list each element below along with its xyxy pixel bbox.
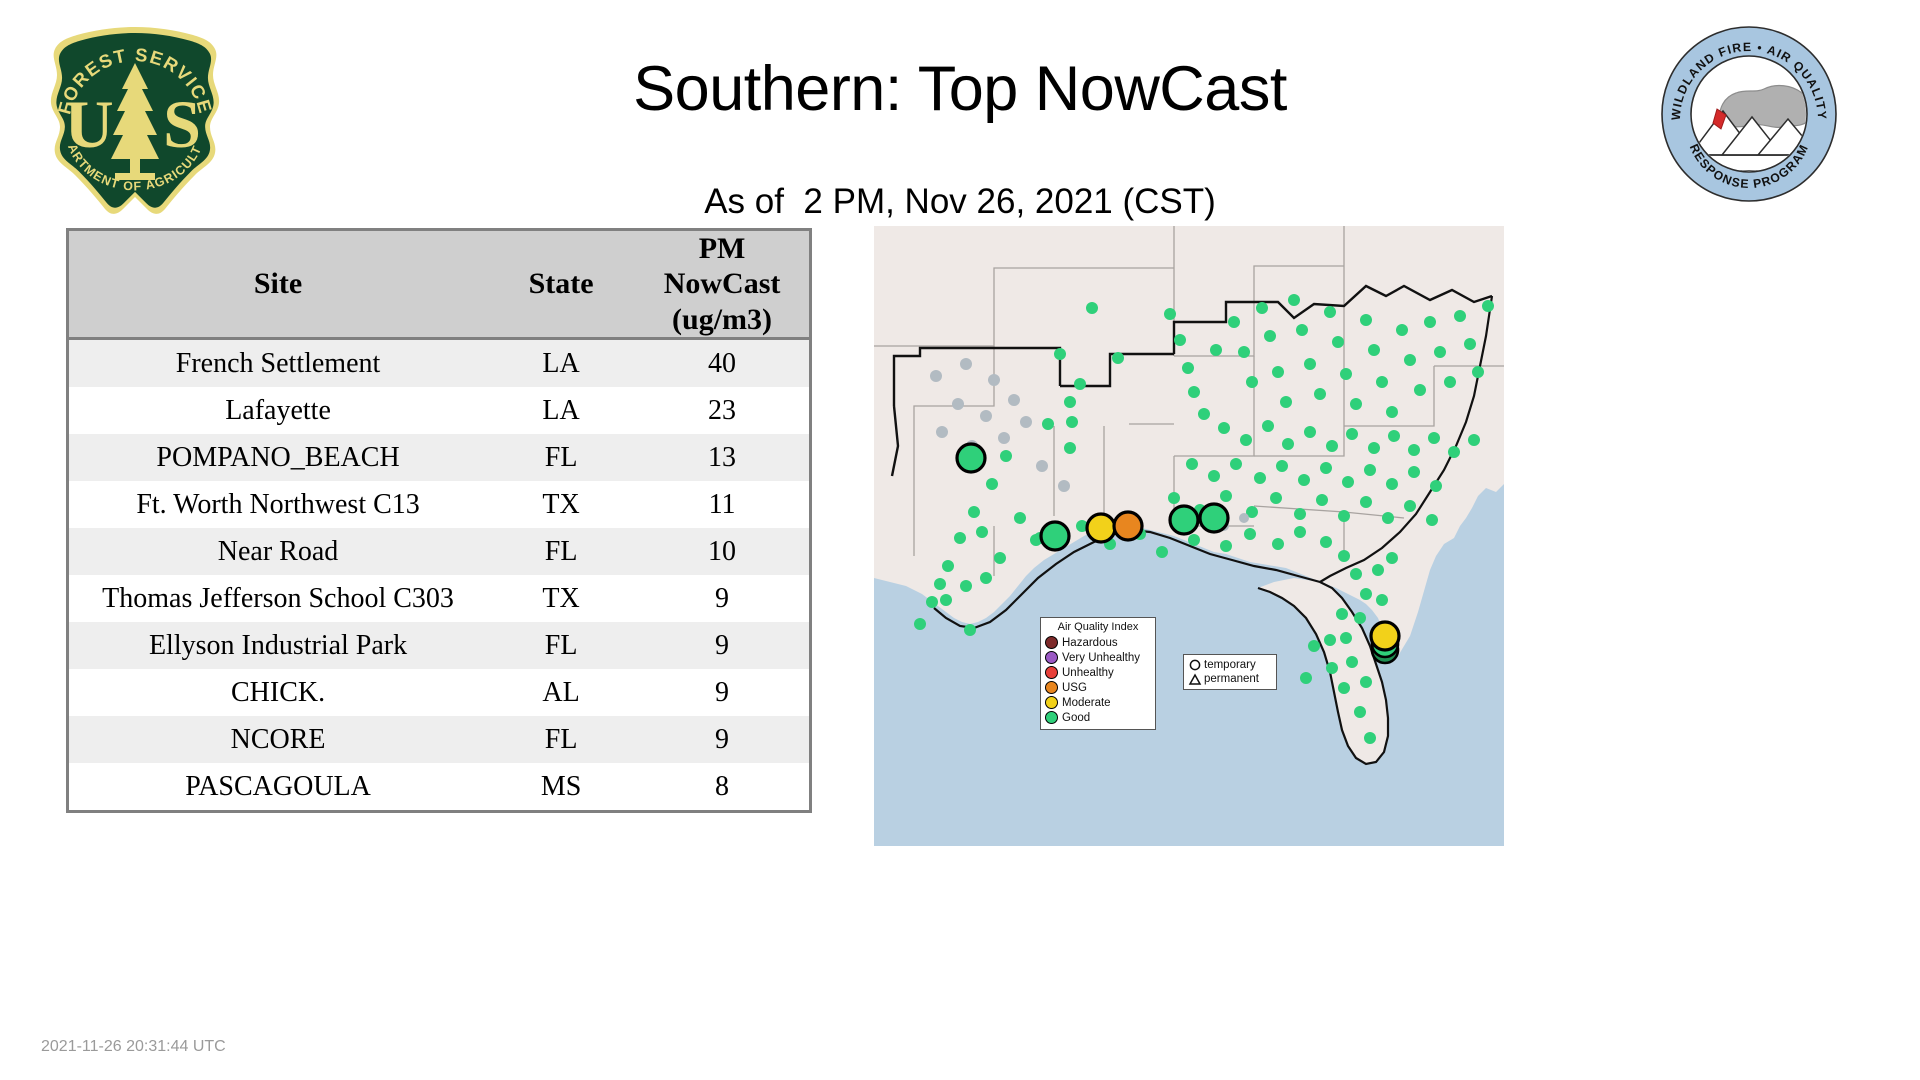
cell-value: 9	[635, 575, 809, 622]
aqi-legend-item-good: Good	[1045, 710, 1151, 725]
cell-site: CHICK.	[69, 669, 487, 716]
aqi-legend-item-hazardous: Hazardous	[1045, 635, 1151, 650]
site-type-label-permanent: permanent	[1204, 673, 1259, 685]
cell-state: FL	[487, 528, 635, 575]
aqi-legend-item-moderate: Moderate	[1045, 695, 1151, 710]
table-row: CHICK. AL 9	[69, 669, 809, 716]
site-type-legend: temporary permanent	[1183, 654, 1277, 690]
highlight-marker-pascagoula[interactable]	[1170, 506, 1198, 534]
table-row: PASCAGOULA MS 8	[69, 763, 809, 810]
cell-site: PASCAGOULA	[69, 763, 487, 810]
cell-site: Ft. Worth Northwest C13	[69, 481, 487, 528]
aqi-label-good: Good	[1062, 712, 1090, 724]
cell-site: POMPANO_BEACH	[69, 434, 487, 481]
aqi-swatch-hazardous	[1045, 636, 1058, 649]
table-row: Ft. Worth Northwest C13 TX 11	[69, 481, 809, 528]
cell-state: FL	[487, 434, 635, 481]
aqi-swatch-usg	[1045, 681, 1058, 694]
aqi-legend-item-unhealthy: Unhealthy	[1045, 665, 1151, 680]
cell-state: FL	[487, 716, 635, 763]
table-body: French Settlement LA 40 Lafayette LA 23 …	[69, 339, 809, 811]
cell-state: AL	[487, 669, 635, 716]
table-row: French Settlement LA 40	[69, 339, 809, 388]
cell-site: Near Road	[69, 528, 487, 575]
cell-value: 9	[635, 622, 809, 669]
cell-state: FL	[487, 622, 635, 669]
aqi-legend-item-very-unhealthy: Very Unhealthy	[1045, 650, 1151, 665]
cell-site: Ellyson Industrial Park	[69, 622, 487, 669]
cell-site: French Settlement	[69, 339, 487, 388]
top-nowcast-table: Site State PM NowCast (ug/m3) French Set…	[69, 231, 809, 810]
highlight-marker-pompano-beach[interactable]	[1371, 622, 1399, 650]
highlight-marker-ft-worth[interactable]	[957, 444, 985, 472]
site-type-label-temporary: temporary	[1204, 659, 1256, 671]
table-row: POMPANO_BEACH FL 13	[69, 434, 809, 481]
column-header-pm-line1: PM	[635, 231, 809, 266]
column-header-pm-line2: NowCast	[635, 266, 809, 301]
column-header-site-label: Site	[254, 267, 302, 300]
aqi-label-unhealthy: Unhealthy	[1062, 667, 1114, 679]
generation-timestamp: 2021-11-26 20:31:44 UTC	[41, 1038, 226, 1056]
table-row: Ellyson Industrial Park FL 9	[69, 622, 809, 669]
aqi-swatch-good	[1045, 711, 1058, 724]
table-header-row: Site State PM NowCast (ug/m3)	[69, 231, 809, 339]
column-header-pm-line3: (ug/m3)	[635, 302, 809, 337]
page-subtitle: As of 2 PM, Nov 26, 2021 (CST)	[0, 182, 1920, 222]
cell-state: LA	[487, 387, 635, 434]
column-header-state-label: State	[529, 267, 594, 300]
highlight-marker-lafayette[interactable]	[1087, 514, 1115, 542]
table-row: Near Road FL 10	[69, 528, 809, 575]
cell-value: 11	[635, 481, 809, 528]
cell-site: Thomas Jefferson School C303	[69, 575, 487, 622]
cell-value: 9	[635, 716, 809, 763]
page-title: Southern: Top NowCast	[0, 55, 1920, 124]
highlight-marker-ellyson[interactable]	[1200, 504, 1228, 532]
cell-value: 23	[635, 387, 809, 434]
cell-state: TX	[487, 481, 635, 528]
cell-state: MS	[487, 763, 635, 810]
aqi-legend-item-usg: USG	[1045, 680, 1151, 695]
aqi-legend: Air Quality Index Hazardous Very Unhealt…	[1040, 617, 1156, 730]
cell-site: Lafayette	[69, 387, 487, 434]
nowcast-table-container: Site State PM NowCast (ug/m3) French Set…	[66, 228, 812, 813]
aqi-legend-title: Air Quality Index	[1045, 621, 1151, 633]
cell-site: NCORE	[69, 716, 487, 763]
highlight-marker-thomas-jefferson[interactable]	[1041, 522, 1069, 550]
aqi-label-usg: USG	[1062, 682, 1087, 694]
cell-value: 8	[635, 763, 809, 810]
circle-icon	[1188, 659, 1202, 672]
aqi-swatch-very-unhealthy	[1045, 651, 1058, 664]
triangle-icon	[1188, 673, 1202, 686]
aqi-label-hazardous: Hazardous	[1062, 637, 1118, 649]
aqi-label-very-unhealthy: Very Unhealthy	[1062, 652, 1140, 664]
aqi-swatch-moderate	[1045, 696, 1058, 709]
column-header-pm-nowcast: PM NowCast (ug/m3)	[635, 231, 809, 339]
cell-value: 9	[635, 669, 809, 716]
cell-state: TX	[487, 575, 635, 622]
cell-value: 10	[635, 528, 809, 575]
highlight-marker-french-settlement[interactable]	[1114, 512, 1142, 540]
table-row: Lafayette LA 23	[69, 387, 809, 434]
column-header-site: Site	[69, 231, 487, 339]
cell-value: 40	[635, 339, 809, 388]
table-header: Site State PM NowCast (ug/m3)	[69, 231, 809, 339]
column-header-state: State	[487, 231, 635, 339]
cell-value: 13	[635, 434, 809, 481]
table-row: NCORE FL 9	[69, 716, 809, 763]
site-type-item-temporary: temporary	[1188, 658, 1272, 672]
aqi-label-moderate: Moderate	[1062, 697, 1111, 709]
aqi-swatch-unhealthy	[1045, 666, 1058, 679]
table-row: Thomas Jefferson School C303 TX 9	[69, 575, 809, 622]
cell-state: LA	[487, 339, 635, 388]
monitor-map[interactable]	[874, 226, 1504, 846]
site-type-item-permanent: permanent	[1188, 672, 1272, 686]
